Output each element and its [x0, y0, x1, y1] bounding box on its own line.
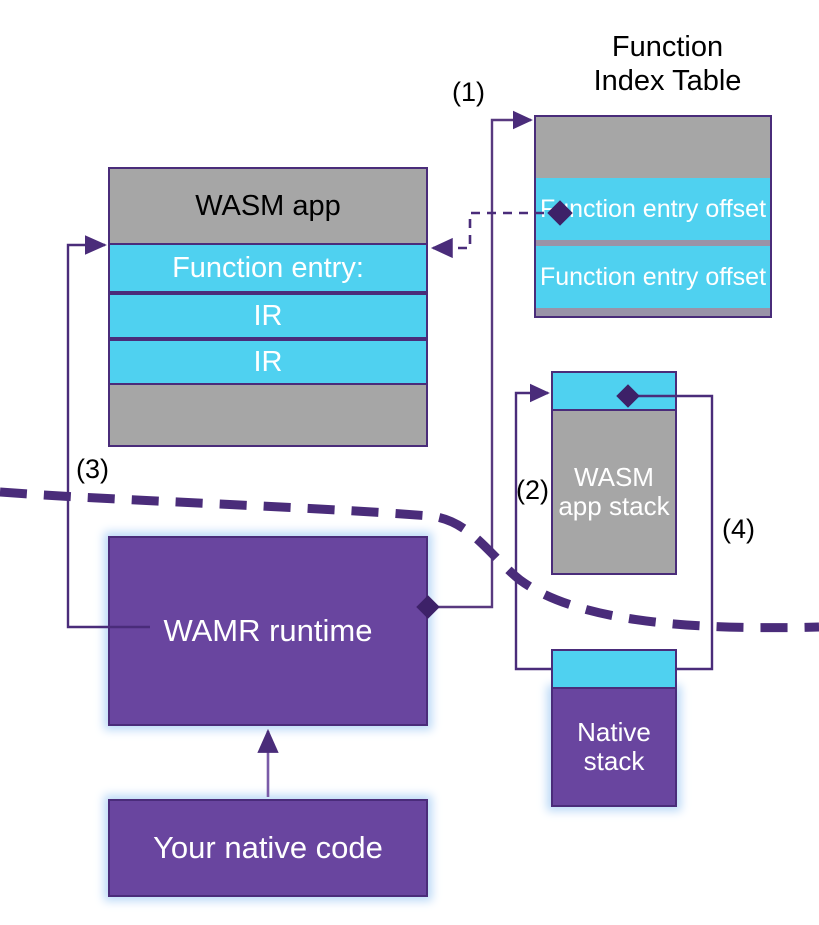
- wasm-app-row-label-2: IR: [254, 346, 283, 378]
- function-index-table-title: Function Index Table: [545, 30, 790, 98]
- wasm-app-box: WASM app Function entry: IR IR: [108, 167, 428, 447]
- step-label-4: (4): [722, 516, 755, 543]
- wasm-app-row-label-1: IR: [254, 300, 283, 332]
- step-label-1: (1): [452, 79, 485, 106]
- native-stack-label: Native stack: [577, 718, 651, 776]
- fit-divider-1: [536, 308, 770, 316]
- wasm-app-row-label-0: Function entry:: [172, 252, 364, 284]
- fit-entry-label-1: Function entry offset: [540, 263, 766, 291]
- fit-entry-label-0: Function entry offset: [540, 195, 766, 223]
- your-native-code-box: Your native code: [108, 799, 428, 897]
- connector-step-1: [428, 120, 531, 607]
- wasm-app-footer-gray: [110, 385, 426, 445]
- wasm-app-header-label: WASM app: [195, 190, 341, 222]
- fit-entry-row-1: Function entry offset: [536, 246, 770, 308]
- wamr-runtime-label: WAMR runtime: [164, 614, 373, 649]
- wasm-app-row-ir-1: IR: [110, 339, 426, 385]
- fit-entry-row-0: Function entry offset: [536, 178, 770, 240]
- wamr-runtime-box: WAMR runtime: [108, 536, 428, 726]
- wasm-app-row-ir-0: IR: [110, 293, 426, 339]
- wasm-app-header: WASM app: [110, 169, 426, 243]
- step-label-2: (2): [516, 477, 549, 504]
- wasm-app-stack-box: WASM app stack: [551, 411, 677, 575]
- wasm-app-stack-top-band: [551, 371, 677, 411]
- wasm-app-row-function-entry: Function entry:: [110, 243, 426, 293]
- native-stack-top-band: [551, 649, 677, 689]
- wasm-app-stack-label: WASM app stack: [558, 463, 669, 521]
- native-stack-box: Native stack: [551, 689, 677, 807]
- diagram-canvas: Function Index Table (1) (2) (3) (4) Fun…: [0, 0, 819, 925]
- fit-header-gray: [536, 117, 770, 178]
- your-native-code-label: Your native code: [153, 831, 383, 866]
- function-index-table: Function entry offset Function entry off…: [534, 115, 772, 318]
- step-label-3: (3): [76, 456, 109, 483]
